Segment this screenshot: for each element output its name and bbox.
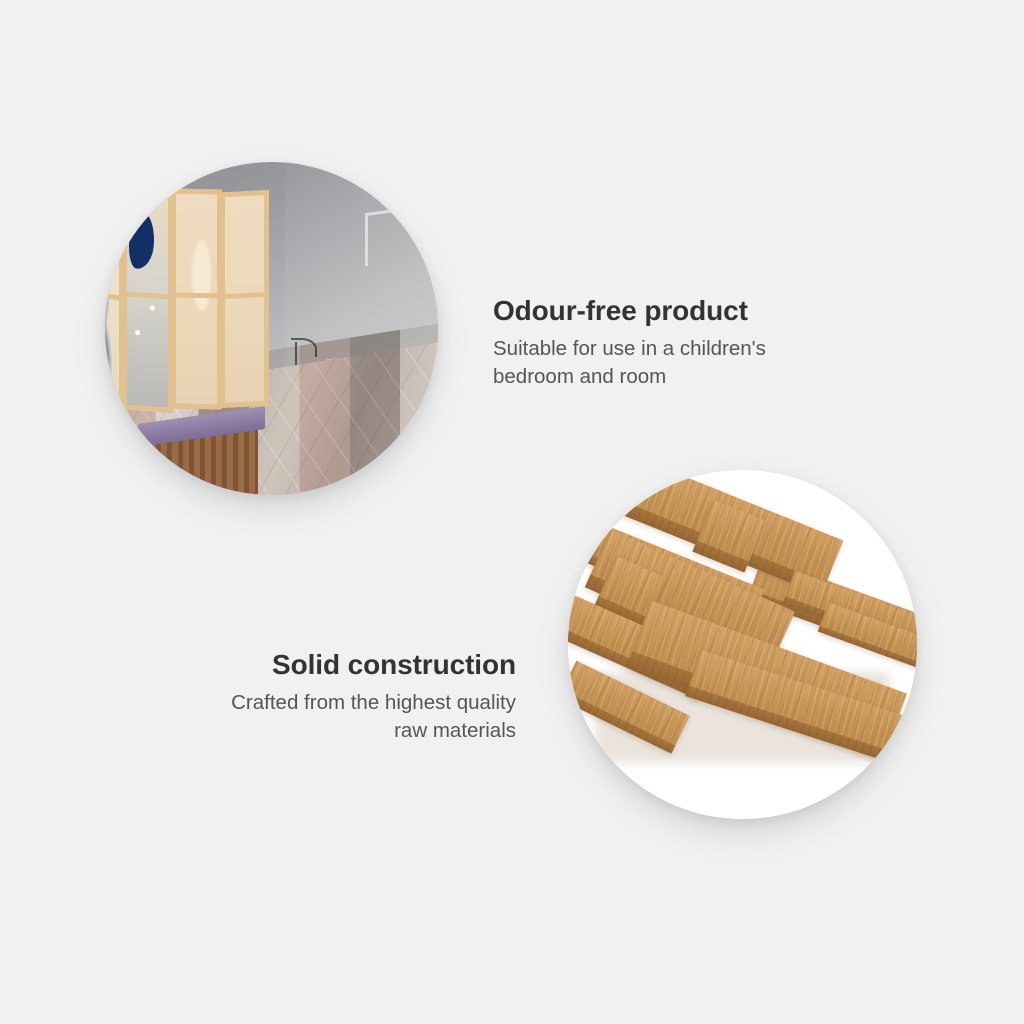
feature-title-odour-free: Odour-free product (493, 296, 913, 327)
divider-panel-2 (122, 185, 173, 413)
feature-title-solid-construction: Solid construction (120, 650, 516, 681)
timber-scene (568, 470, 917, 819)
great-wave-art-panel-3 (176, 193, 217, 403)
wall-picture-frame (365, 204, 425, 265)
divider-panel-3 (171, 188, 222, 409)
great-wave-art-panel-4 (225, 195, 264, 403)
great-wave-art-panel-1 (105, 187, 119, 410)
cloud-shape (191, 240, 210, 312)
great-wave-art-panel-2 (127, 190, 168, 407)
divider-panel-1 (105, 181, 124, 416)
divider-panel-4 (220, 190, 269, 408)
feature-caption-solid-construction: Solid construction Crafted from the high… (120, 650, 516, 745)
bedroom-scene (105, 162, 438, 495)
feature-description-solid-construction: Crafted from the highest quality raw mat… (120, 689, 516, 746)
stacked-timber-planks-photo (568, 470, 917, 819)
bedroom-with-room-divider-photo (105, 162, 438, 495)
infographic-canvas: Odour-free product Suitable for use in a… (0, 0, 1024, 1024)
feature-description-odour-free: Suitable for use in a children's bedroom… (493, 335, 913, 392)
feature-caption-odour-free: Odour-free product Suitable for use in a… (493, 296, 913, 391)
